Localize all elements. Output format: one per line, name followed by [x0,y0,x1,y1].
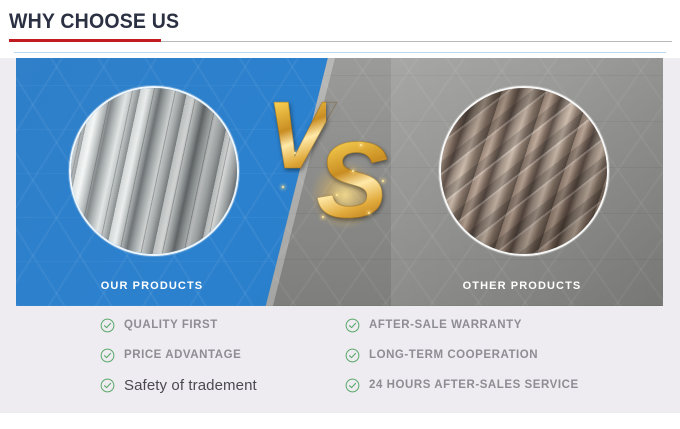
header-accent-underline [9,39,161,42]
our-products-label: OUR PRODUCTS [69,280,235,292]
comparison-banner: OUR PRODUCTS OTHER PRODUCTS V S [16,58,663,306]
silver-steel-bars-image [69,86,239,256]
feature-label: QUALITY FIRST [124,319,218,331]
page-title: WHY CHOOSE US [9,10,179,34]
check-circle-icon [100,348,115,363]
feature-label: Safety of tradement [124,377,257,394]
feature-column-right: AFTER-SALE WARRANTY LONG-TERM COOPERATIO… [345,312,579,402]
header-secondary-line [14,52,666,53]
list-item: PRICE ADVANTAGE [100,342,257,368]
our-products-photo [69,86,239,256]
check-circle-icon [345,348,360,363]
list-item: 24 HOURS AFTER-SALES SERVICE [345,372,579,398]
list-item: Safety of tradement [100,372,257,398]
bottom-spacer [0,413,680,429]
other-products-photo [439,86,609,256]
feature-column-left: QUALITY FIRST PRICE ADVANTAGE Safety of … [100,312,257,402]
feature-label: LONG-TERM COOPERATION [369,349,538,361]
list-item: LONG-TERM COOPERATION [345,342,579,368]
feature-label: PRICE ADVANTAGE [124,349,241,361]
rusty-steel-bars-image [439,86,609,256]
check-circle-icon [345,378,360,393]
list-item: AFTER-SALE WARRANTY [345,312,579,338]
other-products-label: OTHER PRODUCTS [439,280,605,292]
page-header: WHY CHOOSE US [0,0,680,58]
feature-label: 24 HOURS AFTER-SALES SERVICE [369,379,579,391]
check-circle-icon [100,318,115,333]
check-circle-icon [345,318,360,333]
list-item: QUALITY FIRST [100,312,257,338]
feature-label: AFTER-SALE WARRANTY [369,319,522,331]
feature-list: QUALITY FIRST PRICE ADVANTAGE Safety of … [0,312,680,407]
check-circle-icon [100,378,115,393]
